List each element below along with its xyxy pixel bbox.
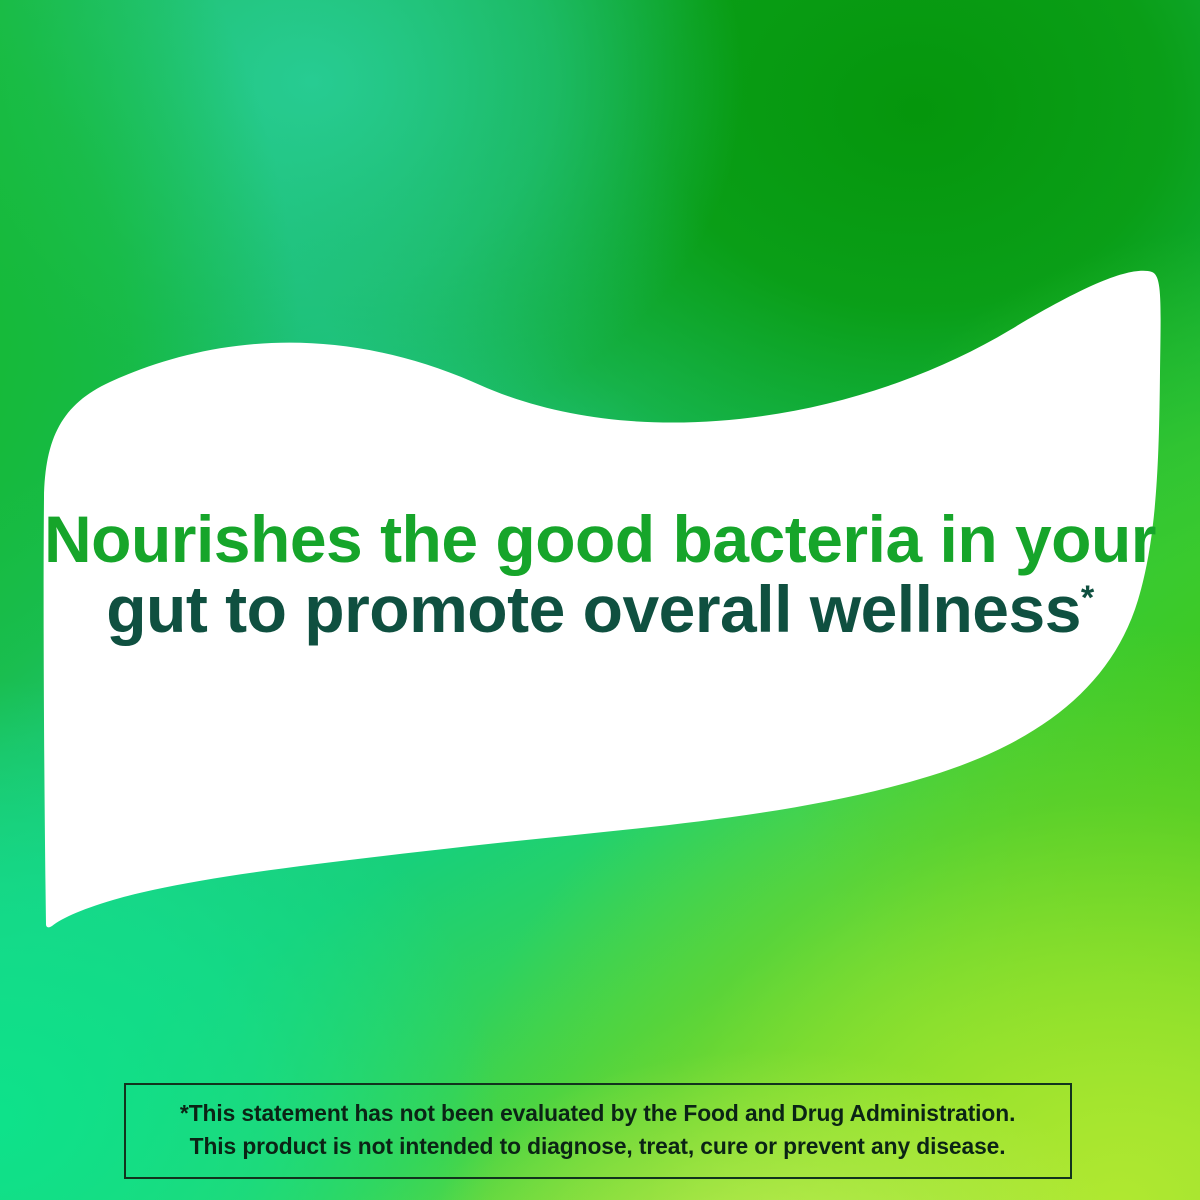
headline-line-1: Nourishes the good bacteria in your bbox=[0, 505, 1200, 575]
headline-line-2: gut to promote overall wellness* bbox=[0, 575, 1200, 645]
disclaimer-line-2: This product is not intended to diagnose… bbox=[190, 1130, 1006, 1163]
headline-line-2-text: gut to promote overall wellness bbox=[106, 572, 1081, 646]
footnote-asterisk: * bbox=[1081, 579, 1094, 617]
product-benefit-banner: Nourishes the good bacteria in your gut … bbox=[0, 0, 1200, 1200]
disclaimer-box: *This statement has not been evaluated b… bbox=[124, 1083, 1072, 1179]
headline: Nourishes the good bacteria in your gut … bbox=[0, 505, 1200, 645]
disclaimer-line-1: *This statement has not been evaluated b… bbox=[180, 1097, 1015, 1130]
